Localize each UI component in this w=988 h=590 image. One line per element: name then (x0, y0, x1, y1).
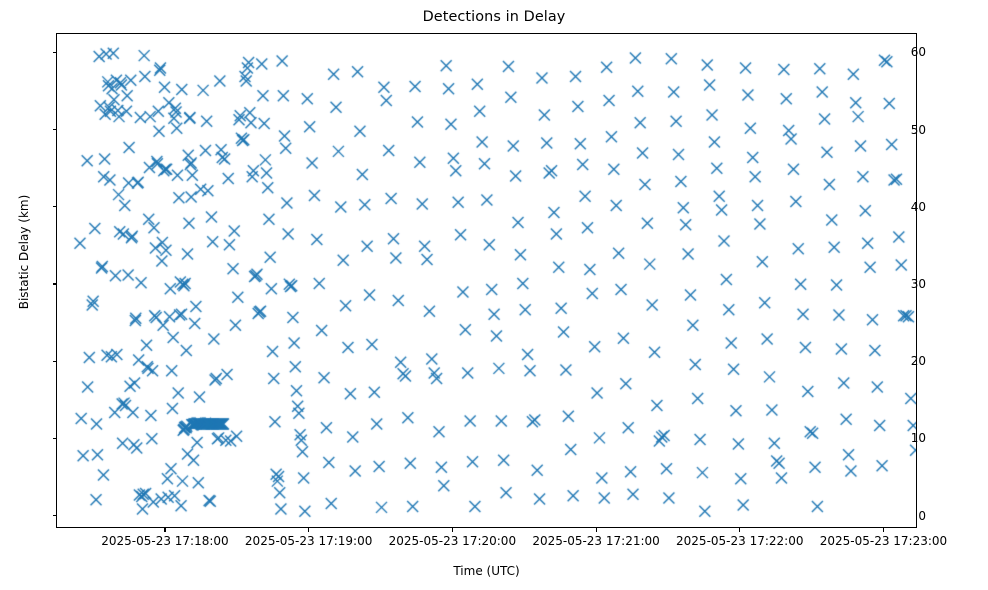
y-tick-mark (53, 361, 57, 362)
y-tick-mark (53, 283, 57, 284)
x-tick-label: 2025-05-23 17:23:00 (753, 534, 988, 548)
y-tick-label: 50 (846, 123, 926, 137)
y-tick-label: 60 (846, 45, 926, 59)
y-tick-label: 0 (846, 509, 926, 523)
x-tick-mark (883, 528, 884, 532)
y-tick-label: 10 (846, 431, 926, 445)
x-tick-mark (308, 528, 309, 532)
y-tick-label: 20 (846, 354, 926, 368)
y-axis-label: Bistatic Delay (km) (17, 2, 31, 502)
x-axis-label: Time (UTC) (56, 564, 917, 578)
y-tick-label: 30 (846, 277, 926, 291)
x-tick-mark (596, 528, 597, 532)
y-tick-mark (53, 515, 57, 516)
y-tick-mark (53, 52, 57, 53)
scatter-points-canvas (57, 34, 917, 528)
x-tick-mark (452, 528, 453, 532)
y-tick-mark (53, 129, 57, 130)
y-tick-mark (53, 438, 57, 439)
plot-area (56, 33, 917, 528)
y-tick-mark (53, 206, 57, 207)
y-tick-label: 40 (846, 200, 926, 214)
x-tick-mark (739, 528, 740, 532)
x-tick-mark (164, 528, 165, 532)
chart-title: Detections in Delay (0, 9, 988, 25)
matplotlib-figure: Detections in Delay 0102030405060 Bistat… (0, 0, 988, 590)
